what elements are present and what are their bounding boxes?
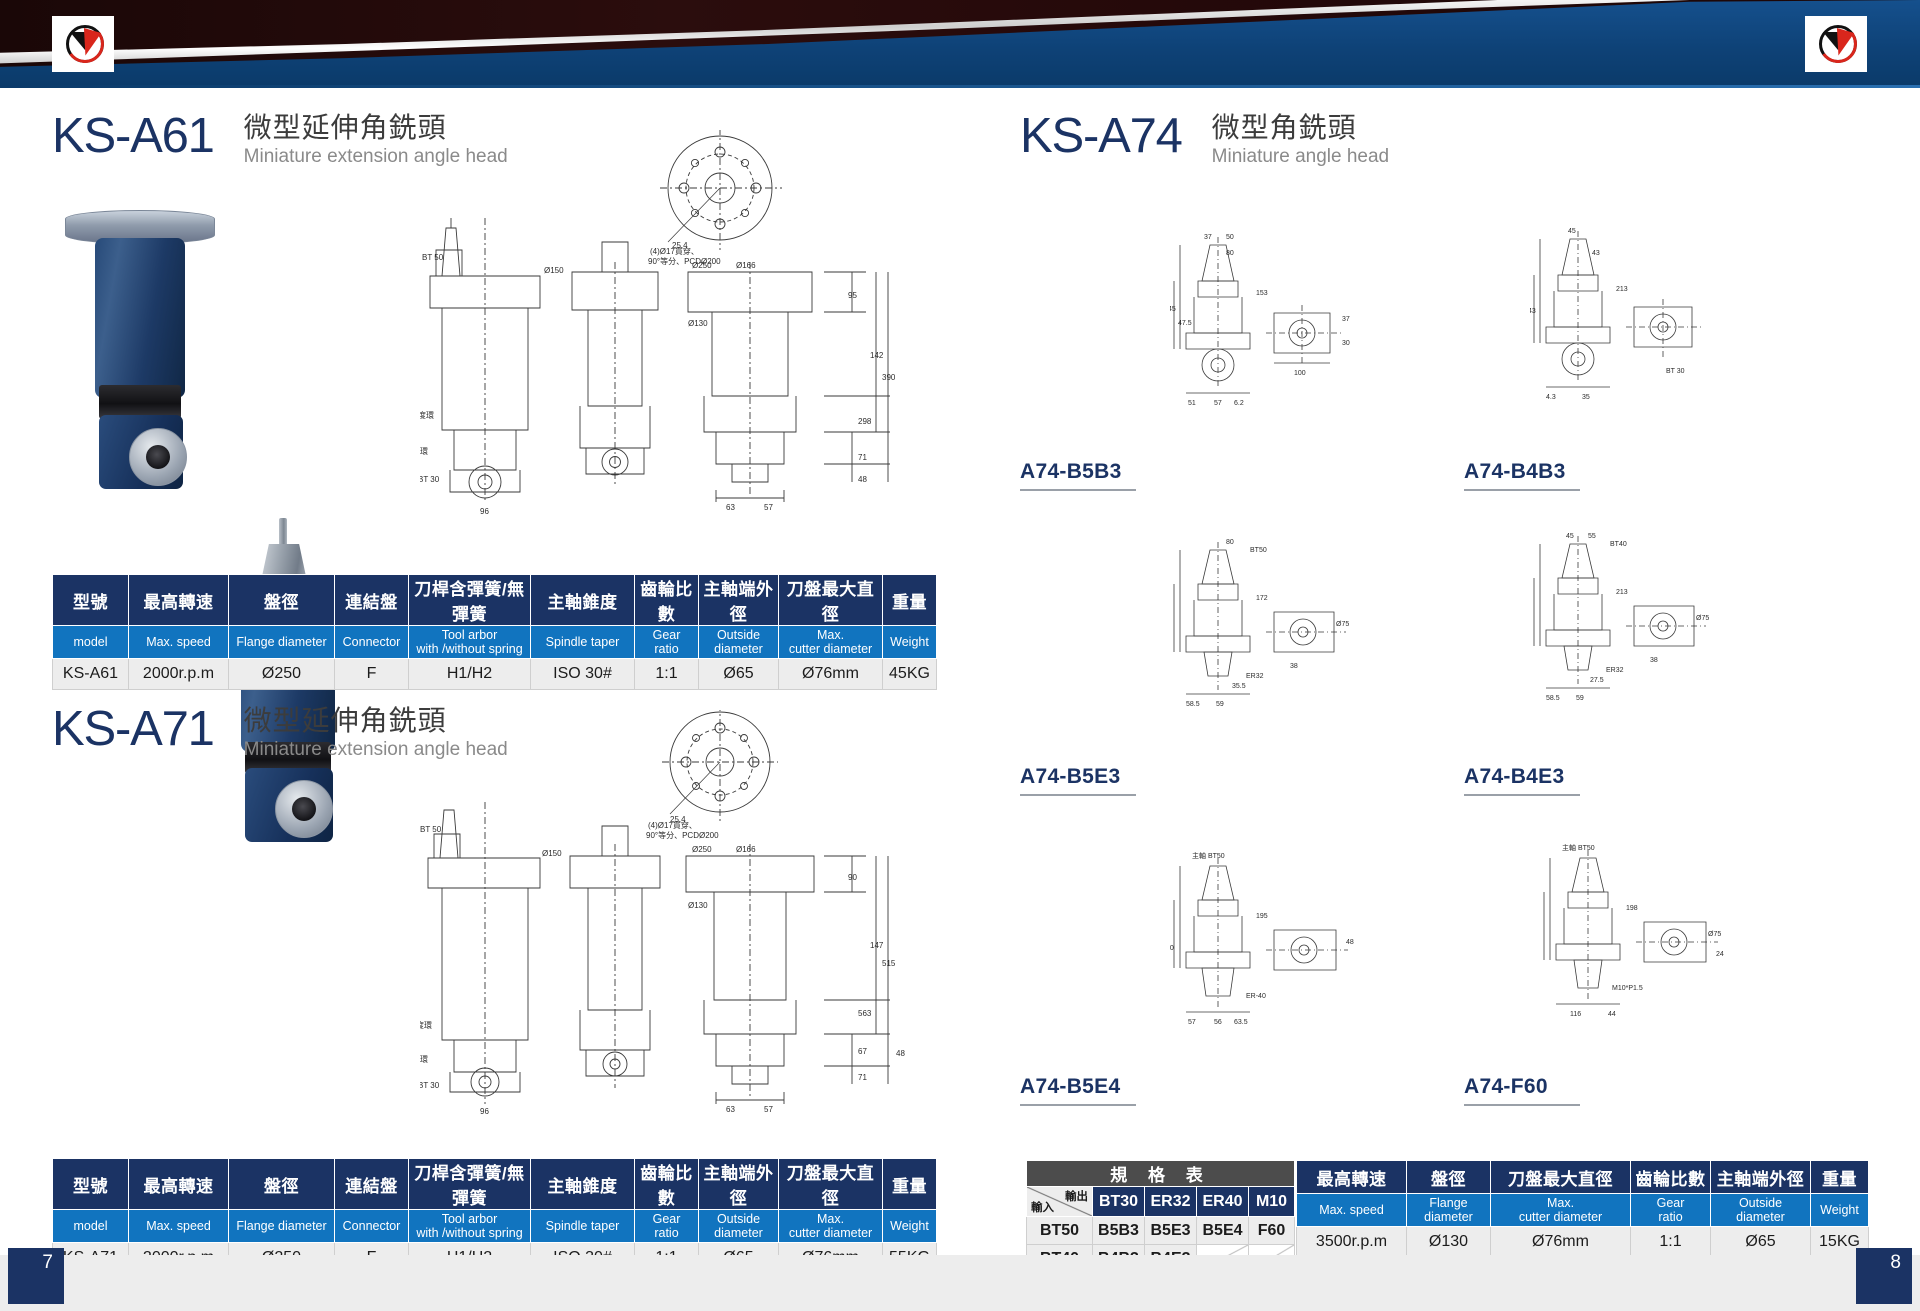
svg-text:142: 142 [870, 351, 884, 360]
svg-text:BT 30: BT 30 [1666, 368, 1685, 375]
svg-text:563: 563 [858, 1009, 872, 1018]
th-cn-weight: 重量 [1811, 1161, 1869, 1194]
svg-text:Ø75: Ø75 [1336, 621, 1349, 628]
svg-text:48: 48 [896, 1049, 905, 1058]
cell-taper: ISO 30# [531, 659, 635, 690]
svg-text:40: 40 [1170, 945, 1174, 952]
svg-text:刻度環: 刻度環 [420, 1054, 428, 1064]
th-cn-gear: 齒輪比數 [1631, 1161, 1711, 1194]
technical-drawing-a74-b5e3: 80 161.9 172 BT50 58.559 ER32 38Ø75 35.5 [1170, 530, 1370, 740]
svg-text:43: 43 [1592, 250, 1600, 257]
th-en-outside: Outsidediameter [1711, 1194, 1811, 1227]
matrix-cell: F60 [1249, 1217, 1295, 1245]
th-en-model: model [53, 1210, 129, 1243]
th-cn-weight: 重量 [883, 575, 937, 626]
table-header-cn-row: 型號 最高轉速 盤徑 連結盤 刀桿含彈簧/無彈簧 主軸錐度 齒輪比數 主軸端外徑… [53, 575, 937, 626]
svg-text:90: 90 [848, 873, 857, 882]
th-en-flange: Flange diameter [229, 1210, 335, 1243]
svg-text:95: 95 [848, 291, 857, 300]
technical-drawing-a74-b4b3: 4543 134 213 434.335 BT 30 [1530, 215, 1730, 435]
matrix-col-m10: M10 [1249, 1187, 1295, 1217]
svg-text:4.3: 4.3 [1546, 394, 1556, 401]
th-cn-taper: 主軸錐度 [531, 575, 635, 626]
svg-text:195: 195 [1256, 913, 1268, 920]
svg-text:48: 48 [858, 475, 867, 484]
svg-text:57: 57 [1188, 1019, 1196, 1026]
cell-speed: 2000r.p.m [129, 659, 229, 690]
svg-text:298: 298 [858, 417, 872, 426]
product-photo-ks-a61-side [55, 200, 225, 520]
th-cn-connector: 連結盤 [335, 1159, 409, 1210]
cell-model: KS-A61 [53, 659, 129, 690]
svg-text:55: 55 [1588, 533, 1596, 540]
svg-text:80: 80 [1226, 539, 1234, 546]
th-en-connector: Connector [335, 1210, 409, 1243]
svg-text:BT40: BT40 [1610, 541, 1627, 548]
svg-text:45: 45 [1170, 306, 1176, 313]
svg-text:172: 172 [1256, 595, 1268, 602]
svg-text:Ø75: Ø75 [1708, 931, 1721, 938]
spec-table-ks-a61: 型號 最高轉速 盤徑 連結盤 刀桿含彈簧/無彈簧 主軸錐度 齒輪比數 主軸端外徑… [52, 574, 937, 690]
spec-table-ks-a74: 最高轉速 盤徑 刀盤最大直徑 齒輪比數 主軸端外徑 重量 Max. speed … [1296, 1160, 1869, 1258]
cell-outside: Ø65 [699, 659, 779, 690]
th-en-weight: Weight [1811, 1194, 1869, 1227]
svg-text:90°等分、PCDØ200: 90°等分、PCDØ200 [646, 830, 719, 840]
svg-text:59: 59 [1576, 695, 1584, 702]
svg-text:63: 63 [726, 1105, 735, 1114]
svg-text:M10*P1.5: M10*P1.5 [1612, 985, 1643, 992]
th-cn-flange: 盤徑 [1407, 1161, 1491, 1194]
svg-text:BT 50: BT 50 [420, 825, 442, 834]
svg-text:58.5: 58.5 [1186, 701, 1200, 708]
th-en-cutter: Max.cutter diameter [779, 626, 883, 659]
svg-text:BT 50: BT 50 [422, 253, 444, 262]
svg-text:Ø166: Ø166 [736, 845, 756, 854]
page-number-right: 8 [1856, 1248, 1912, 1304]
svg-text:71: 71 [858, 1073, 867, 1082]
svg-text:96: 96 [480, 507, 489, 516]
svg-text:96: 96 [480, 1107, 489, 1116]
svg-text:43: 43 [1530, 308, 1536, 315]
model-caption-a74-b5e3: A74-B5E3 [1020, 765, 1136, 800]
product-code: KS-A74 [1020, 112, 1182, 161]
model-caption-a74-b5b3: A74-B5B3 [1020, 460, 1136, 495]
svg-text:116: 116 [1570, 1011, 1581, 1018]
svg-text:45: 45 [1568, 228, 1576, 235]
th-cn-arbor: 刀桿含彈簧/無彈簧 [409, 1159, 531, 1210]
th-cn-weight: 重量 [883, 1159, 937, 1210]
cell-flange: Ø130 [1407, 1227, 1491, 1258]
th-en-arbor: Tool arborwith /without spring [409, 1210, 531, 1243]
svg-text:57: 57 [764, 1105, 773, 1114]
svg-text:71: 71 [858, 453, 867, 462]
svg-text:47.5: 47.5 [1178, 320, 1192, 327]
table-header-en-row: model Max. speed Flange diameter Connect… [53, 1210, 937, 1243]
svg-text:390: 390 [882, 373, 896, 382]
table-header-en-row: model Max. speed Flange diameter Connect… [53, 626, 937, 659]
table-header-cn-row: 型號 最高轉速 盤徑 連結盤 刀桿含彈簧/無彈簧 主軸錐度 齒輪比數 主軸端外徑… [53, 1159, 937, 1210]
matrix-corner-output: 輸出 [1065, 1188, 1088, 1204]
catalog-page-spread: KS-A61 微型延伸角銑頭 Miniature extension angle… [0, 0, 1920, 1311]
cell-outside: Ø65 [1711, 1227, 1811, 1258]
cell-gear: 1:1 [1631, 1227, 1711, 1258]
product-code: KS-A61 [52, 112, 214, 161]
svg-text:48: 48 [1346, 939, 1354, 946]
th-en-outside: Outsidediameter [699, 626, 779, 659]
th-cn-flange: 盤徑 [229, 575, 335, 626]
th-cn-cutter: 刀盤最大直徑 [1491, 1161, 1631, 1194]
th-cn-outside: 主軸端外徑 [1711, 1161, 1811, 1194]
svg-text:Ø150: Ø150 [544, 266, 564, 275]
technical-drawing-a74-f60: 主軸 BT50 42 74 198 116 44 M10*P1.5 Ø75 24 [1540, 830, 1740, 1050]
cell-weight: 45KG [883, 659, 937, 690]
th-cn-flange: 盤徑 [229, 1159, 335, 1210]
svg-text:Ø250: Ø250 [692, 845, 712, 854]
footer-bar [0, 1255, 1920, 1311]
table-row: 3500r.p.m Ø130 Ø76mm 1:1 Ø65 15KG [1297, 1227, 1869, 1258]
svg-text:ER-40: ER-40 [1246, 993, 1266, 1000]
cell-connector: F [335, 659, 409, 690]
th-en-speed: Max. speed [129, 1210, 229, 1243]
th-cn-speed: 最高轉速 [129, 575, 229, 626]
technical-drawing-a74-b4e3: 4555 35.1 213 BT40 58.559 ER32 38Ø75 27.… [1530, 520, 1730, 735]
th-cn-outside: 主軸端外徑 [699, 575, 779, 626]
svg-text:50: 50 [1226, 234, 1234, 241]
th-cn-cutter: 刀盤最大直徑 [779, 1159, 883, 1210]
svg-text:24: 24 [1716, 951, 1724, 958]
svg-text:56: 56 [1214, 1019, 1222, 1026]
th-cn-model: 型號 [53, 575, 129, 626]
svg-text:45: 45 [1566, 533, 1574, 540]
svg-text:38: 38 [1650, 657, 1658, 664]
svg-text:Ø150: Ø150 [542, 849, 562, 858]
th-cn-model: 型號 [53, 1159, 129, 1210]
th-en-flange: Flangediameter [1407, 1194, 1491, 1227]
svg-text:Ø75: Ø75 [1696, 615, 1709, 622]
th-cn-gear: 齒輪比數 [635, 1159, 699, 1210]
company-logo-left [52, 16, 114, 72]
th-cn-gear: 齒輪比數 [635, 575, 699, 626]
svg-text:25.4: 25.4 [672, 241, 688, 250]
svg-text:147: 147 [870, 941, 884, 950]
th-en-weight: Weight [883, 1210, 937, 1243]
svg-text:刻度環: 刻度環 [420, 446, 428, 456]
company-logo-right [1805, 16, 1867, 72]
th-cn-arbor: 刀桿含彈簧/無彈簧 [409, 575, 531, 626]
page-banner [0, 0, 1920, 88]
product-title-cn: 微型角銑頭 [1212, 112, 1389, 144]
banner-bottom-rule [0, 85, 1920, 88]
th-en-gear: Gearratio [1631, 1194, 1711, 1227]
table-header-en-row: Max. speed Flangediameter Max.cutter dia… [1297, 1194, 1869, 1227]
matrix-corner-cell: 輸出 輸入 [1027, 1187, 1093, 1217]
th-en-cutter: Max.cutter diameter [1491, 1194, 1631, 1227]
svg-text:57: 57 [1214, 400, 1222, 407]
svg-text:63.5: 63.5 [1234, 1019, 1248, 1026]
product-code: KS-A71 [52, 705, 214, 754]
svg-text:58.5: 58.5 [1546, 695, 1560, 702]
matrix-header-row: 輸出 輸入 BT30 ER32 ER40 M10 [1027, 1187, 1295, 1217]
technical-drawing-a74-b5e4: 主軸 BT50 182.8 54.8 195 40 575663.5 ER-40… [1170, 840, 1370, 1055]
svg-text:153: 153 [1256, 290, 1268, 297]
svg-text:BT50: BT50 [1250, 547, 1267, 554]
th-cn-cutter: 刀盤最大直徑 [779, 575, 883, 626]
svg-text:35.5: 35.5 [1232, 683, 1246, 690]
svg-text:Ø250: Ø250 [692, 261, 712, 270]
model-caption-a74-b4b3: A74-B4B3 [1464, 460, 1580, 495]
th-en-cutter: Max.cutter diameter [779, 1210, 883, 1243]
svg-text:37: 37 [1342, 316, 1350, 323]
th-en-weight: Weight [883, 626, 937, 659]
model-caption-a74-b4e3: A74-B4E3 [1464, 765, 1580, 800]
svg-text:主軸BT 30: 主軸BT 30 [420, 474, 440, 484]
svg-text:213: 213 [1616, 589, 1628, 596]
cell-speed: 3500r.p.m [1297, 1227, 1407, 1258]
page-number-left: 7 [8, 1248, 64, 1304]
th-en-outside: Outsidediameter [699, 1210, 779, 1243]
technical-drawing-a74-b5b3: 375080 153 161.9 47.545 51576.2 100 3730 [1170, 225, 1370, 440]
th-cn-speed: 最高轉速 [129, 1159, 229, 1210]
th-cn-speed: 最高轉速 [1297, 1161, 1407, 1194]
th-en-speed: Max. speed [129, 626, 229, 659]
th-en-arbor: Tool arborwith /without spring [409, 626, 531, 659]
cell-cutter: Ø76mm [1491, 1227, 1631, 1258]
matrix-col-er40: ER40 [1197, 1187, 1249, 1217]
svg-text:67: 67 [858, 1047, 867, 1056]
th-en-taper: Spindle taper [531, 626, 635, 659]
table-row: KS-A61 2000r.p.m Ø250 F H1/H2 ISO 30# 1:… [53, 659, 937, 690]
cell-gear: 1:1 [635, 659, 699, 690]
matrix-cell: B5B3 [1093, 1217, 1145, 1245]
product-title-en: Miniature angle head [1212, 146, 1389, 169]
svg-text:ER32: ER32 [1246, 673, 1264, 680]
svg-text:213: 213 [1616, 286, 1628, 293]
th-en-gear: Gearratio [635, 626, 699, 659]
cell-flange: Ø250 [229, 659, 335, 690]
th-cn-outside: 主軸端外徑 [699, 1159, 779, 1210]
model-caption-a74-f60: A74-F60 [1464, 1075, 1580, 1110]
th-en-model: model [53, 626, 129, 659]
matrix-row-bt50: BT50 B5B3 B5E3 B5E4 F60 [1027, 1217, 1295, 1245]
svg-text:59: 59 [1216, 701, 1224, 708]
svg-text:100: 100 [1294, 370, 1306, 377]
th-en-flange: Flange diameter [229, 626, 335, 659]
matrix-corner-input: 輸入 [1031, 1199, 1054, 1215]
svg-text:27.5: 27.5 [1590, 677, 1604, 684]
matrix-title-row: 規 格 表 [1027, 1161, 1295, 1187]
matrix-cell: B5E4 [1197, 1217, 1249, 1245]
svg-text:515: 515 [882, 959, 896, 968]
th-en-gear: Gearratio [635, 1210, 699, 1243]
svg-text:Ø166: Ø166 [736, 261, 756, 270]
th-cn-connector: 連結盤 [335, 575, 409, 626]
logo-icon [1813, 22, 1859, 66]
svg-text:主軸BT 30: 主軸BT 30 [420, 1080, 440, 1090]
svg-text:80: 80 [1226, 250, 1234, 257]
product-heading-ks-a74: KS-A74 微型角銑頭 Miniature angle head [1020, 112, 1389, 169]
svg-text:刻度環: 刻度環 [420, 410, 434, 420]
svg-text:37: 37 [1204, 234, 1212, 241]
matrix-title: 規 格 表 [1027, 1161, 1295, 1187]
technical-drawing-ks-a71: (4)Ø17貫穿、 90°等分、PCDØ200 25.4 BT 50 Ø150 … [420, 710, 930, 1130]
cell-cutter: Ø76mm [779, 659, 883, 690]
svg-text:主軸 BT50: 主軸 BT50 [1192, 851, 1225, 860]
th-en-connector: Connector [335, 626, 409, 659]
svg-text:51: 51 [1188, 400, 1196, 407]
matrix-cell: B5E3 [1145, 1217, 1197, 1245]
svg-text:Ø130: Ø130 [688, 901, 708, 910]
svg-text:25.4: 25.4 [670, 815, 686, 824]
svg-text:Ø130: Ø130 [688, 319, 708, 328]
svg-text:ER32: ER32 [1606, 667, 1624, 674]
table-header-cn-row: 最高轉速 盤徑 刀盤最大直徑 齒輪比數 主軸端外徑 重量 [1297, 1161, 1869, 1194]
th-en-taper: Spindle taper [531, 1210, 635, 1243]
model-caption-a74-b5e4: A74-B5E4 [1020, 1075, 1136, 1110]
matrix-row-label: BT50 [1027, 1217, 1093, 1245]
matrix-col-er32: ER32 [1145, 1187, 1197, 1217]
svg-text:35: 35 [1582, 394, 1590, 401]
svg-text:30: 30 [1342, 340, 1350, 347]
th-en-speed: Max. speed [1297, 1194, 1407, 1227]
svg-text:刻度環: 刻度環 [420, 1020, 432, 1030]
svg-text:6.2: 6.2 [1234, 400, 1244, 407]
cell-arbor: H1/H2 [409, 659, 531, 690]
technical-drawing-ks-a61: (4)Ø17貫穿、 90°等分、PCDØ200 25.4 BT 50 Ø150 … [420, 130, 930, 530]
svg-text:38: 38 [1290, 663, 1298, 670]
svg-text:44: 44 [1608, 1011, 1616, 1018]
svg-text:主軸 BT50: 主軸 BT50 [1562, 843, 1595, 852]
th-cn-taper: 主軸錐度 [531, 1159, 635, 1210]
logo-icon [60, 22, 106, 66]
svg-text:198: 198 [1626, 905, 1638, 912]
matrix-col-bt30: BT30 [1093, 1187, 1145, 1217]
svg-text:63: 63 [726, 503, 735, 512]
svg-text:57: 57 [764, 503, 773, 512]
